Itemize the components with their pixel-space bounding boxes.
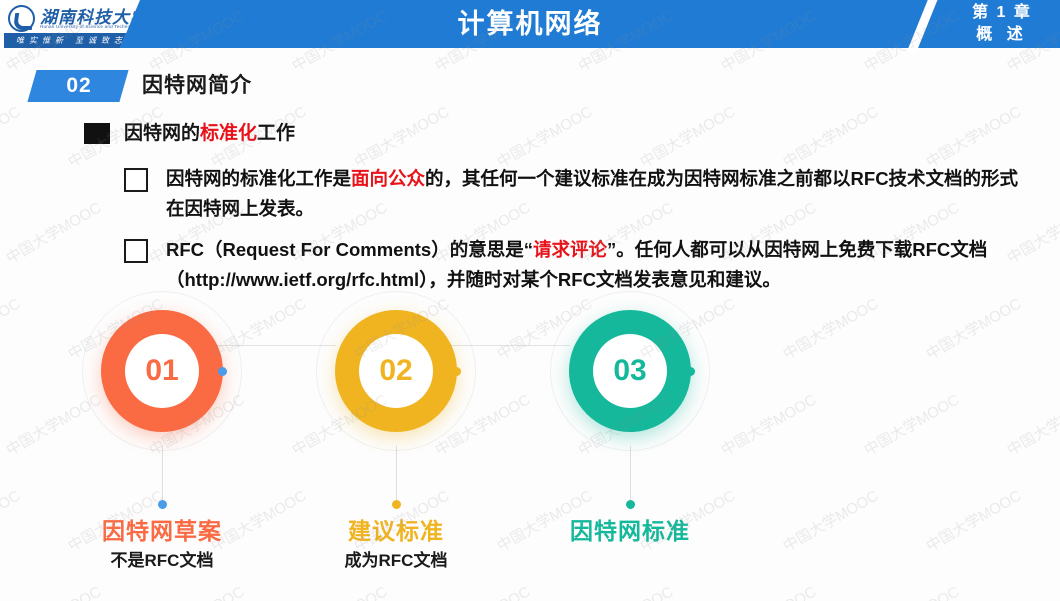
subsection-text-after: 工作 [257, 123, 295, 144]
stage-ring-group: 03 [510, 296, 750, 446]
stage-drop-dot-icon [626, 500, 635, 509]
stage-drop-line [396, 446, 397, 502]
empty-checkbox-icon[interactable] [124, 239, 148, 263]
bullet-highlight: 面向公众 [351, 168, 425, 189]
stage-drop-line [630, 446, 631, 502]
section-title: 因特网简介 [142, 70, 252, 102]
stage-label: 因特网标准 [510, 512, 750, 546]
bullet-list: 因特网的标准化工作是面向公众的，其任何一个建议标准在成为因特网标准之前都以RFC… [124, 164, 1032, 306]
logo-motto: 唯实惟新 至诚致志 [16, 35, 127, 46]
logo-name-en: Hunan University of Science and Technolo… [40, 24, 139, 29]
chapter-indicator: 第 1 章 概 述 [952, 2, 1052, 45]
stage-drop-dot-icon [392, 500, 401, 509]
bullet-plain: 因特网的标准化工作是 [166, 168, 351, 189]
stage-ring[interactable]: 01 [101, 310, 223, 432]
watermark-text: 中国大学MOOC [636, 101, 739, 173]
watermark-text: 中国大学MOOC [779, 101, 882, 173]
slash-divider-icon [904, 0, 952, 48]
stage-sublabel: 不是RFC文档 [42, 546, 282, 571]
stage-drop-dot-icon [158, 500, 167, 509]
stage-side-dot-icon [218, 367, 227, 376]
bullet-item: RFC（Request For Comments）的意思是“请求评论”。任何人都… [124, 235, 1032, 295]
stage-sublabel: 成为RFC文档 [276, 546, 516, 571]
subsection-text-highlight: 标准化 [200, 123, 257, 144]
stage-label: 建议标准 [276, 512, 516, 546]
chapter-number: 第 1 章 [952, 2, 1052, 24]
page-title: 计算机网络 [0, 0, 1060, 48]
section-number: 02 [44, 70, 114, 102]
stage-number: 03 [593, 334, 667, 408]
process-diagram: 01因特网草案不是RFC文档02建议标准成为RFC文档03因特网标准 [0, 296, 1060, 586]
stage-ring[interactable]: 02 [335, 310, 457, 432]
empty-checkbox-icon[interactable] [124, 168, 148, 192]
slide-header: 计算机网络 第 1 章 概 述 [0, 0, 1060, 48]
bullet-text: RFC（Request For Comments）的意思是“请求评论”。任何人都… [166, 235, 1032, 295]
bullet-text: 因特网的标准化工作是面向公众的，其任何一个建议标准在成为因特网标准之前都以RFC… [166, 164, 1032, 224]
stage-drop-line [162, 446, 163, 502]
stage-number: 01 [125, 334, 199, 408]
subsection-title: 因特网的标准化工作 [124, 120, 295, 148]
square-bullet-icon [84, 123, 110, 144]
watermark-text: 中国大学MOOC [2, 197, 105, 269]
university-emblem-icon [8, 5, 35, 32]
bullet-item: 因特网的标准化工作是面向公众的，其任何一个建议标准在成为因特网标准之前都以RFC… [124, 164, 1032, 224]
process-stage: 01因特网草案不是RFC文档 [42, 296, 282, 446]
stage-ring-group: 01 [42, 296, 282, 446]
watermark-text: 中国大学MOOC [922, 101, 1025, 173]
stage-side-dot-icon [686, 367, 695, 376]
watermark-text: 中国大学MOOC [493, 101, 596, 173]
bullet-highlight: 请求评论 [533, 239, 607, 260]
slide-root: 计算机网络 第 1 章 概 述 湖南科技大学 Hunan University … [0, 0, 1060, 601]
chapter-name: 概 述 [952, 24, 1052, 45]
bullet-plain: RFC（Request For Comments）的意思是“ [166, 239, 533, 260]
stage-number: 02 [359, 334, 433, 408]
stage-side-dot-icon [452, 367, 461, 376]
stage-ring-group: 02 [276, 296, 516, 446]
subsection-text-before: 因特网的 [124, 123, 200, 144]
stage-label: 因特网草案 [42, 512, 282, 546]
stage-ring[interactable]: 03 [569, 310, 691, 432]
process-stage: 02建议标准成为RFC文档 [276, 296, 516, 446]
watermark-text: 中国大学MOOC [0, 101, 24, 173]
process-stage: 03因特网标准 [510, 296, 750, 446]
watermark-text: 中国大学MOOC [350, 101, 453, 173]
